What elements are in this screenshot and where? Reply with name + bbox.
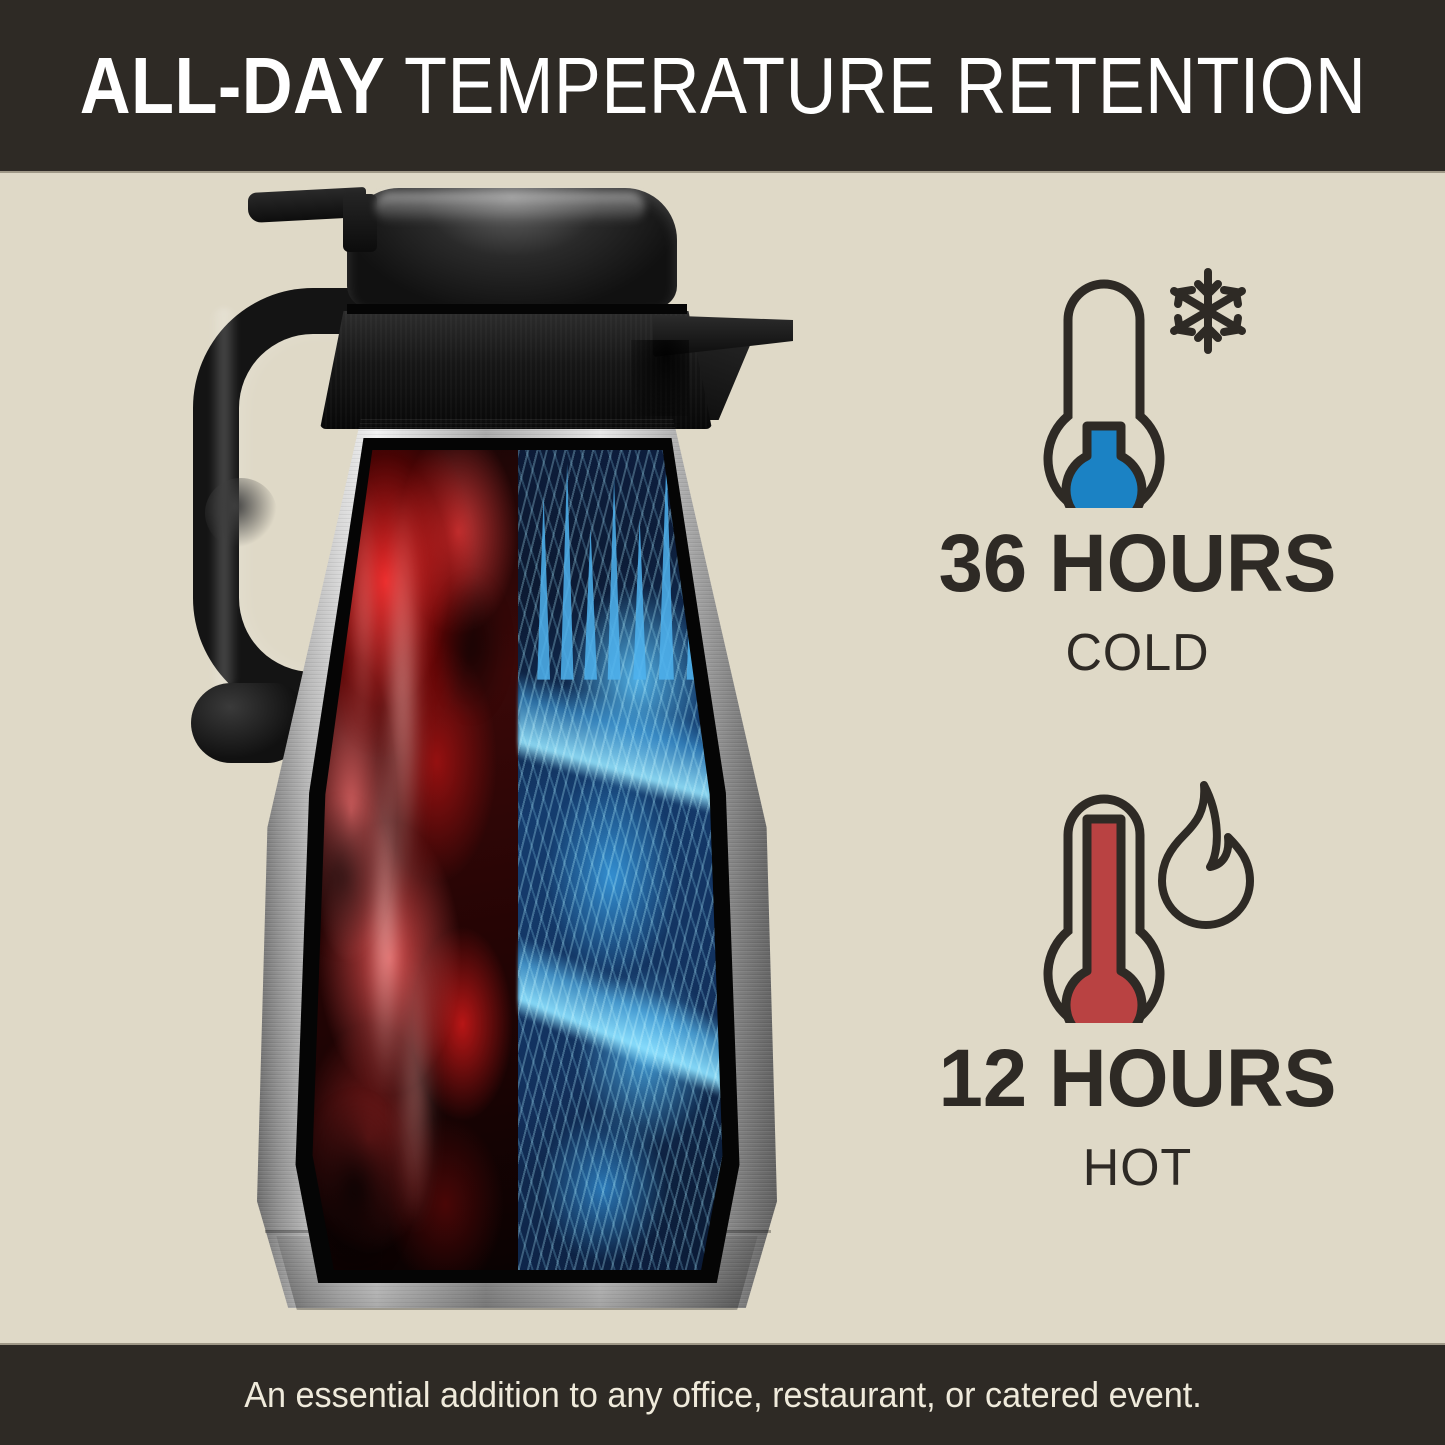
- product-image-carafe: [85, 178, 805, 1318]
- header-bar: ALL-DAY TEMPERATURE RETENTION: [0, 0, 1445, 173]
- feature-list: 36 HOURS COLD 12 HOURS HOT: [830, 173, 1445, 1343]
- flame-icon: [1162, 785, 1250, 925]
- carafe-graphic-panel: [304, 450, 731, 1270]
- page-title-strong: ALL-DAY: [79, 41, 385, 130]
- snowflake-icon: [1174, 272, 1242, 350]
- feature-hot: 12 HOURS HOT: [830, 768, 1445, 1194]
- carafe-lid-lever-stub: [343, 194, 377, 252]
- feature-hot-icons: [830, 768, 1445, 1028]
- feature-cold-hours: 36 HOURS: [839, 523, 1436, 605]
- carafe-handle-grip: [205, 478, 277, 548]
- feature-cold-label: COLD: [839, 627, 1436, 679]
- feature-hot-label: HOT: [839, 1142, 1436, 1194]
- page-title-rest: TEMPERATURE RETENTION: [385, 41, 1366, 130]
- main-stage: 36 HOURS COLD 12 HOURS HOT: [0, 173, 1445, 1343]
- feature-hot-hours: 12 HOURS: [839, 1038, 1436, 1120]
- page-title: ALL-DAY TEMPERATURE RETENTION: [79, 40, 1366, 132]
- footer-bar: An essential addition to any office, res…: [0, 1343, 1445, 1445]
- carafe-lid-seam: [347, 304, 687, 314]
- thermometer-hot-icon: [1008, 773, 1268, 1023]
- feature-cold-icons: [830, 253, 1445, 513]
- carafe-spout-shadow: [631, 340, 689, 416]
- carafe-lid-cap-highlight: [375, 192, 645, 222]
- thermometer-cold-icon: [1008, 258, 1268, 508]
- feature-cold: 36 HOURS COLD: [830, 253, 1445, 679]
- footer-tagline: An essential addition to any office, res…: [244, 1374, 1202, 1416]
